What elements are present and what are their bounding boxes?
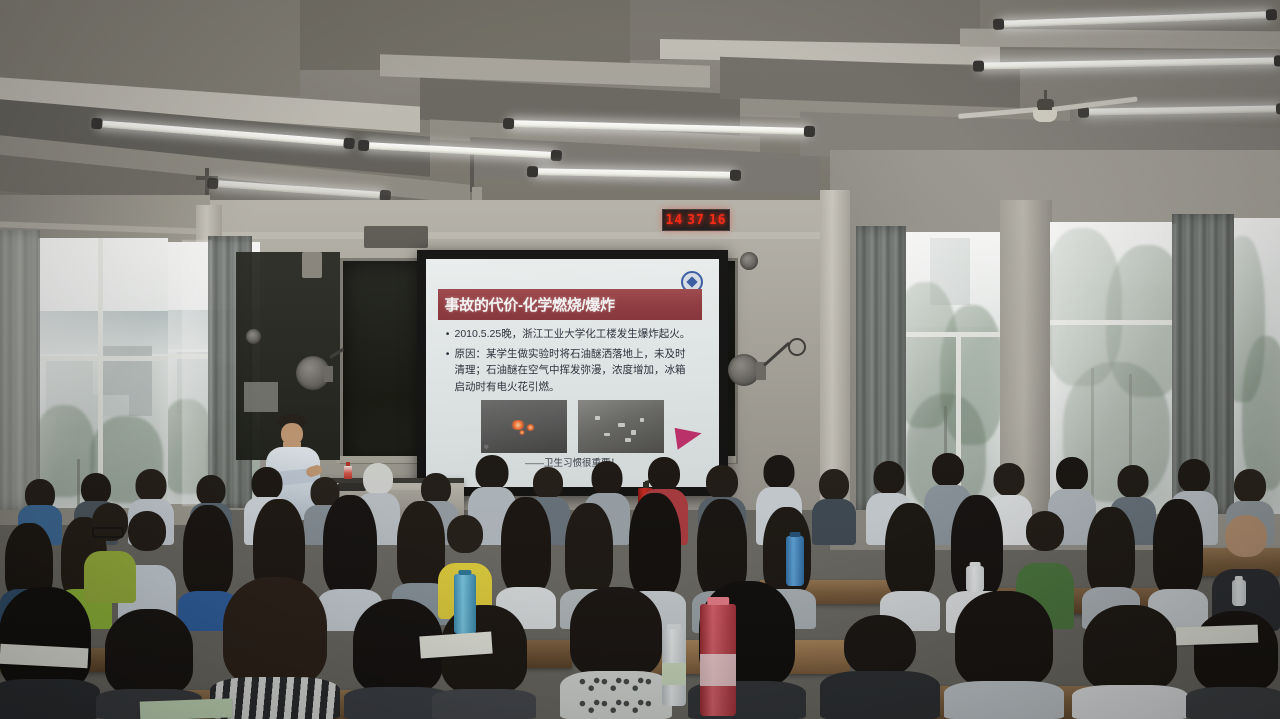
student (944, 591, 1064, 719)
bullet-text: 2010.5.25晚，浙江工业大学化工楼发生爆炸起火。 (454, 326, 690, 342)
clock-seconds: 16 (709, 213, 727, 228)
lecture-hall-photo: 事故的代价-化学燃烧/爆炸 • 2010.5.25晚，浙江工业大学化工楼发生爆炸… (0, 0, 1280, 719)
small-bottle-right (1232, 580, 1246, 606)
wall-fan-far-left (246, 326, 264, 346)
slide-bullet-list: • 2010.5.25晚，浙江工业大学化工楼发生爆炸起火。 • 原因：某学生做实… (446, 326, 705, 399)
blue-sport-bottle (786, 536, 804, 586)
digital-wall-clock: 14 37 16 (662, 209, 730, 231)
wall-molding (200, 232, 840, 239)
bullet-marker: • (446, 346, 450, 395)
student (1072, 605, 1188, 719)
fire-photo: ◎ (481, 400, 567, 453)
student (820, 615, 940, 719)
notebook-green (140, 698, 233, 719)
photo-watermark: ◎ (484, 444, 488, 450)
wall-sign (244, 382, 278, 412)
wall-fan-far-right (740, 248, 762, 272)
slide-bullet-1: • 2010.5.25晚，浙江工业大学化工楼发生爆炸起火。 (446, 326, 705, 342)
student-patterned-top (560, 587, 672, 719)
glasses-icon (92, 527, 124, 538)
slide-title-bar: 事故的代价-化学燃烧/爆炸 (438, 289, 702, 320)
ceiling-fan (1030, 90, 1060, 124)
student (812, 469, 856, 545)
projection-screen[interactable]: 事故的代价-化学燃烧/爆炸 • 2010.5.25晚，浙江工业大学化工楼发生爆炸… (426, 259, 719, 487)
wall-speaker (302, 252, 322, 278)
bullet-marker: • (446, 326, 450, 342)
shirt-pattern (578, 675, 654, 715)
presentation-slide: 事故的代价-化学燃烧/爆炸 • 2010.5.25晚，浙江工业大学化工楼发生爆炸… (426, 259, 719, 487)
slide-title-text: 事故的代价-化学燃烧/爆炸 (444, 294, 614, 315)
air-vent (364, 226, 428, 248)
clock-hours: 14 (666, 213, 684, 228)
debris-photo (578, 400, 664, 453)
pink-water-bottle (700, 604, 736, 716)
slide-image-row: ◎ (481, 400, 664, 453)
student (432, 605, 536, 719)
clock-minutes: 37 (687, 213, 705, 228)
notebook-right (1176, 625, 1259, 646)
wall-fan-right (728, 340, 788, 396)
clear-water-bottle (662, 628, 686, 706)
bullet-text: 原因：某学生做实验时将石油醚洒落地上，未及时 清理；石油醚在空气中挥发弥漫，浓度… (454, 346, 685, 395)
slide-accent-triangle (674, 425, 703, 450)
wall-fan-left (296, 352, 340, 396)
student-audience (0, 459, 1280, 719)
blue-thermos (454, 574, 476, 634)
student (880, 503, 940, 631)
slide-bullet-2: • 原因：某学生做实验时将石油醚洒落地上，未及时 清理；石油醚在空气中挥发弥漫，… (446, 346, 705, 395)
white-cup (966, 566, 984, 592)
